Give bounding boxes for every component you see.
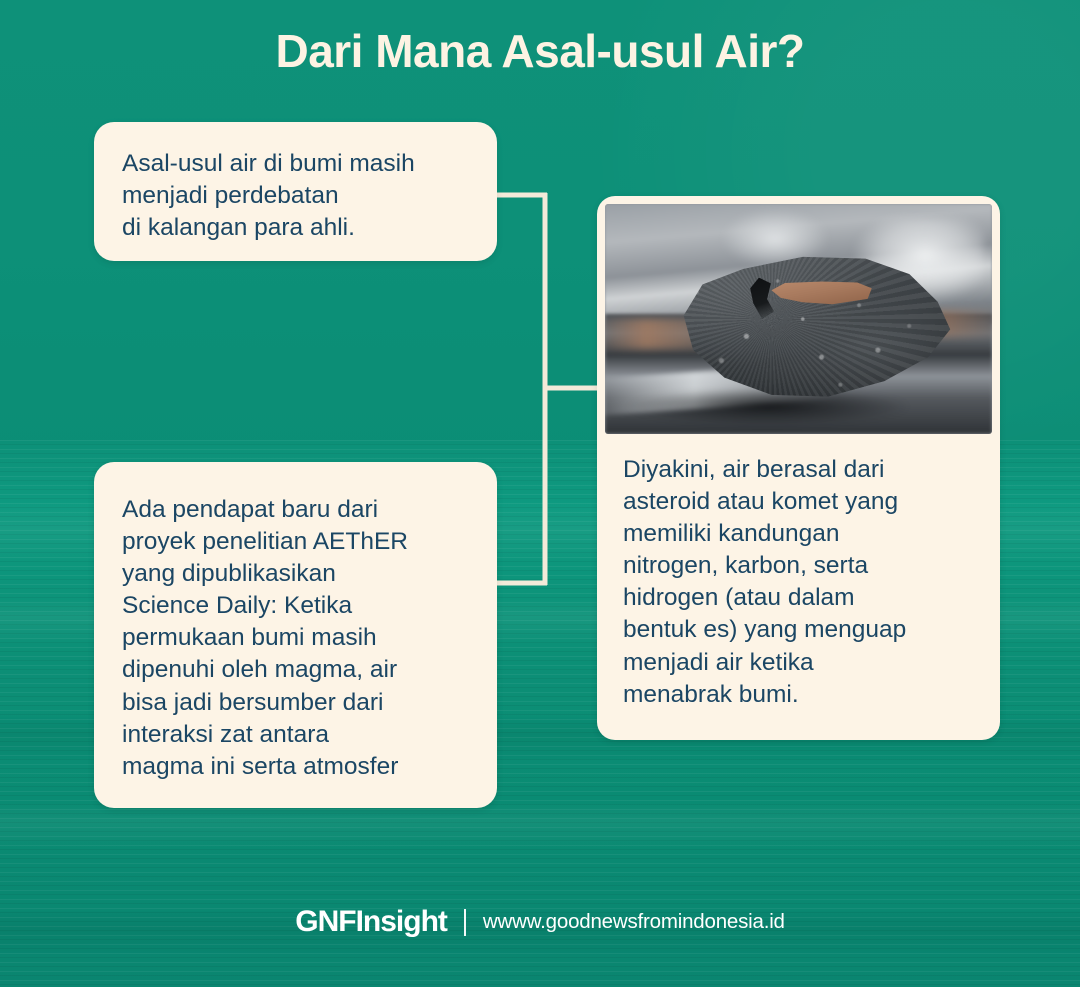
card-asteroid: Diyakini, air berasal dari asteroid atau… <box>597 196 1000 740</box>
card-asteroid-text: Diyakini, air berasal dari asteroid atau… <box>623 454 974 711</box>
brand-secondary-label: Insight <box>356 905 447 939</box>
brand-logo: GNF Insight <box>295 905 447 939</box>
card-aether-text: Ada pendapat baru dari proyek penelitian… <box>122 494 469 783</box>
card-aether: Ada pendapat baru dari proyek penelitian… <box>94 462 497 808</box>
footer: GNF Insight wwww.goodnewsfromindonesia.i… <box>0 905 1080 939</box>
card-intro-text: Asal-usul air di bumi masih menjadi perd… <box>122 148 469 244</box>
card-intro: Asal-usul air di bumi masih menjadi perd… <box>94 122 497 261</box>
footer-website-url: wwww.goodnewsfromindonesia.id <box>483 910 785 934</box>
page-title: Dari Mana Asal-usul Air? <box>0 24 1080 78</box>
brand-primary-label: GNF <box>295 905 355 939</box>
meteorite-photo <box>605 204 992 434</box>
footer-divider <box>464 909 466 936</box>
